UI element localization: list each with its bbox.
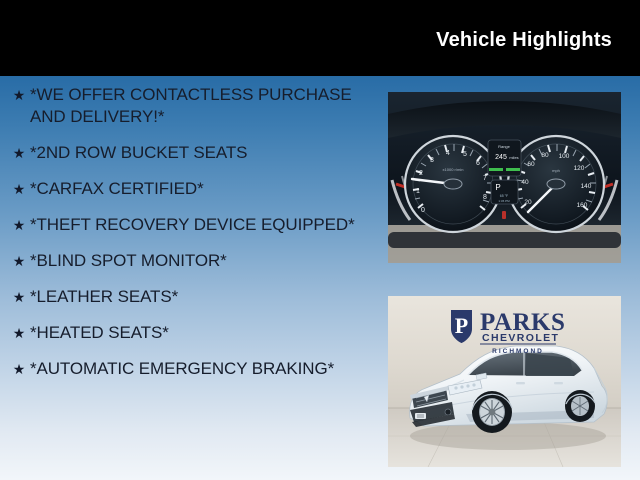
list-item: ★ *WE OFFER CONTACTLESS PURCHASE AND DEL… (0, 84, 372, 128)
svg-text:0: 0 (421, 207, 425, 214)
vehicle-highlights-list: ★ *WE OFFER CONTACTLESS PURCHASE AND DEL… (0, 84, 372, 394)
svg-text:1: 1 (416, 188, 420, 195)
svg-text:miles: miles (509, 155, 518, 160)
list-item-label: *HEATED SEATS* (30, 322, 366, 344)
svg-text:RICHMOND: RICHMOND (492, 348, 544, 355)
star-bullet-icon: ★ (8, 214, 30, 236)
list-item-label: *LEATHER SEATS* (30, 286, 366, 308)
star-bullet-icon: ★ (8, 286, 30, 308)
svg-text:120: 120 (574, 165, 585, 172)
list-item: ★ *BLIND SPOT MONITOR* (0, 250, 372, 272)
star-bullet-icon: ★ (8, 250, 30, 272)
page-title: Vehicle Highlights (436, 29, 612, 52)
list-item-label: *BLIND SPOT MONITOR* (30, 250, 366, 272)
svg-text:8: 8 (483, 194, 487, 201)
list-item: ★ *2ND ROW BUCKET SEATS (0, 142, 372, 164)
svg-text:160: 160 (577, 202, 588, 209)
svg-text:65 °F: 65 °F (500, 194, 508, 198)
svg-text:x1000 r/min: x1000 r/min (443, 167, 464, 172)
instrument-cluster-photo[interactable]: 0 1 2 3 4 5 6 7 8 x1000 r/min (388, 92, 621, 263)
svg-text:40: 40 (521, 179, 529, 186)
svg-text:60: 60 (527, 161, 535, 168)
list-item-label: *WE OFFER CONTACTLESS PURCHASE AND DELIV… (30, 84, 366, 128)
list-item: ★ *THEFT RECOVERY DEVICE EQUIPPED* (0, 214, 372, 236)
svg-text:3: 3 (430, 157, 434, 164)
svg-text:Range: Range (498, 144, 511, 149)
star-bullet-icon: ★ (8, 142, 30, 164)
svg-text:245: 245 (495, 154, 507, 161)
svg-text:P: P (495, 183, 500, 192)
list-item-label: *2ND ROW BUCKET SEATS (30, 142, 366, 164)
star-bullet-icon: ★ (8, 84, 30, 106)
svg-text:80: 80 (541, 152, 549, 159)
svg-text:100: 100 (559, 153, 570, 160)
list-item-label: *CARFAX CERTIFIED* (30, 178, 366, 200)
svg-text:5: 5 (463, 151, 467, 158)
vehicle-highlights-slide: Vehicle Highlights ★ *WE OFFER CONTACTLE… (0, 0, 640, 480)
svg-text:2: 2 (419, 170, 423, 177)
svg-text:mph: mph (552, 168, 560, 173)
svg-text:20: 20 (524, 199, 532, 206)
svg-text:7: 7 (483, 175, 487, 182)
list-item: ★ *CARFAX CERTIFIED* (0, 178, 372, 200)
star-bullet-icon: ★ (8, 178, 30, 200)
list-item-label: *AUTOMATIC EMERGENCY BRAKING* (30, 358, 366, 380)
svg-text:1:36 PM: 1:36 PM (498, 199, 510, 203)
svg-text:6: 6 (476, 160, 480, 167)
list-item: ★ *AUTOMATIC EMERGENCY BRAKING* (0, 358, 372, 380)
vehicle-photo[interactable]: P PARKS CHEVROLET RICHMOND (388, 296, 621, 467)
list-item: ★ *HEATED SEATS* (0, 322, 372, 344)
svg-text:P: P (455, 313, 468, 338)
svg-text:4: 4 (446, 150, 450, 157)
svg-text:140: 140 (581, 183, 592, 190)
list-item-label: *THEFT RECOVERY DEVICE EQUIPPED* (30, 214, 366, 236)
list-item: ★ *LEATHER SEATS* (0, 286, 372, 308)
svg-text:CHEVROLET: CHEVROLET (482, 332, 559, 344)
star-bullet-icon: ★ (8, 322, 30, 344)
star-bullet-icon: ★ (8, 358, 30, 380)
header-bar: Vehicle Highlights (0, 0, 640, 76)
